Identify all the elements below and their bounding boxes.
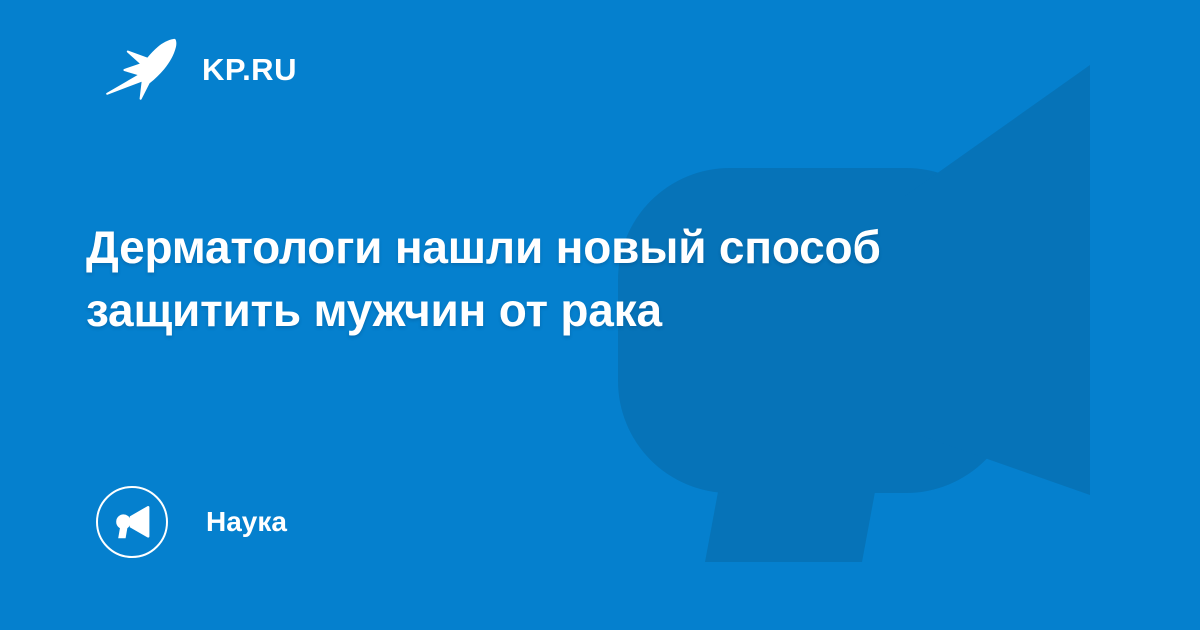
category-icon-circle (96, 486, 168, 558)
page-title: Дерматологи нашли новый способ защитить … (86, 216, 1076, 341)
site-header: KP.RU (104, 36, 297, 102)
share-card: KP.RU Дерматологи нашли новый способ защ… (0, 0, 1200, 630)
category-label: Наука (206, 508, 287, 536)
category-badge[interactable]: Наука (96, 486, 287, 558)
megaphone-icon (113, 505, 151, 539)
swallow-bird-icon (104, 36, 178, 102)
brand-name: KP.RU (202, 54, 297, 85)
